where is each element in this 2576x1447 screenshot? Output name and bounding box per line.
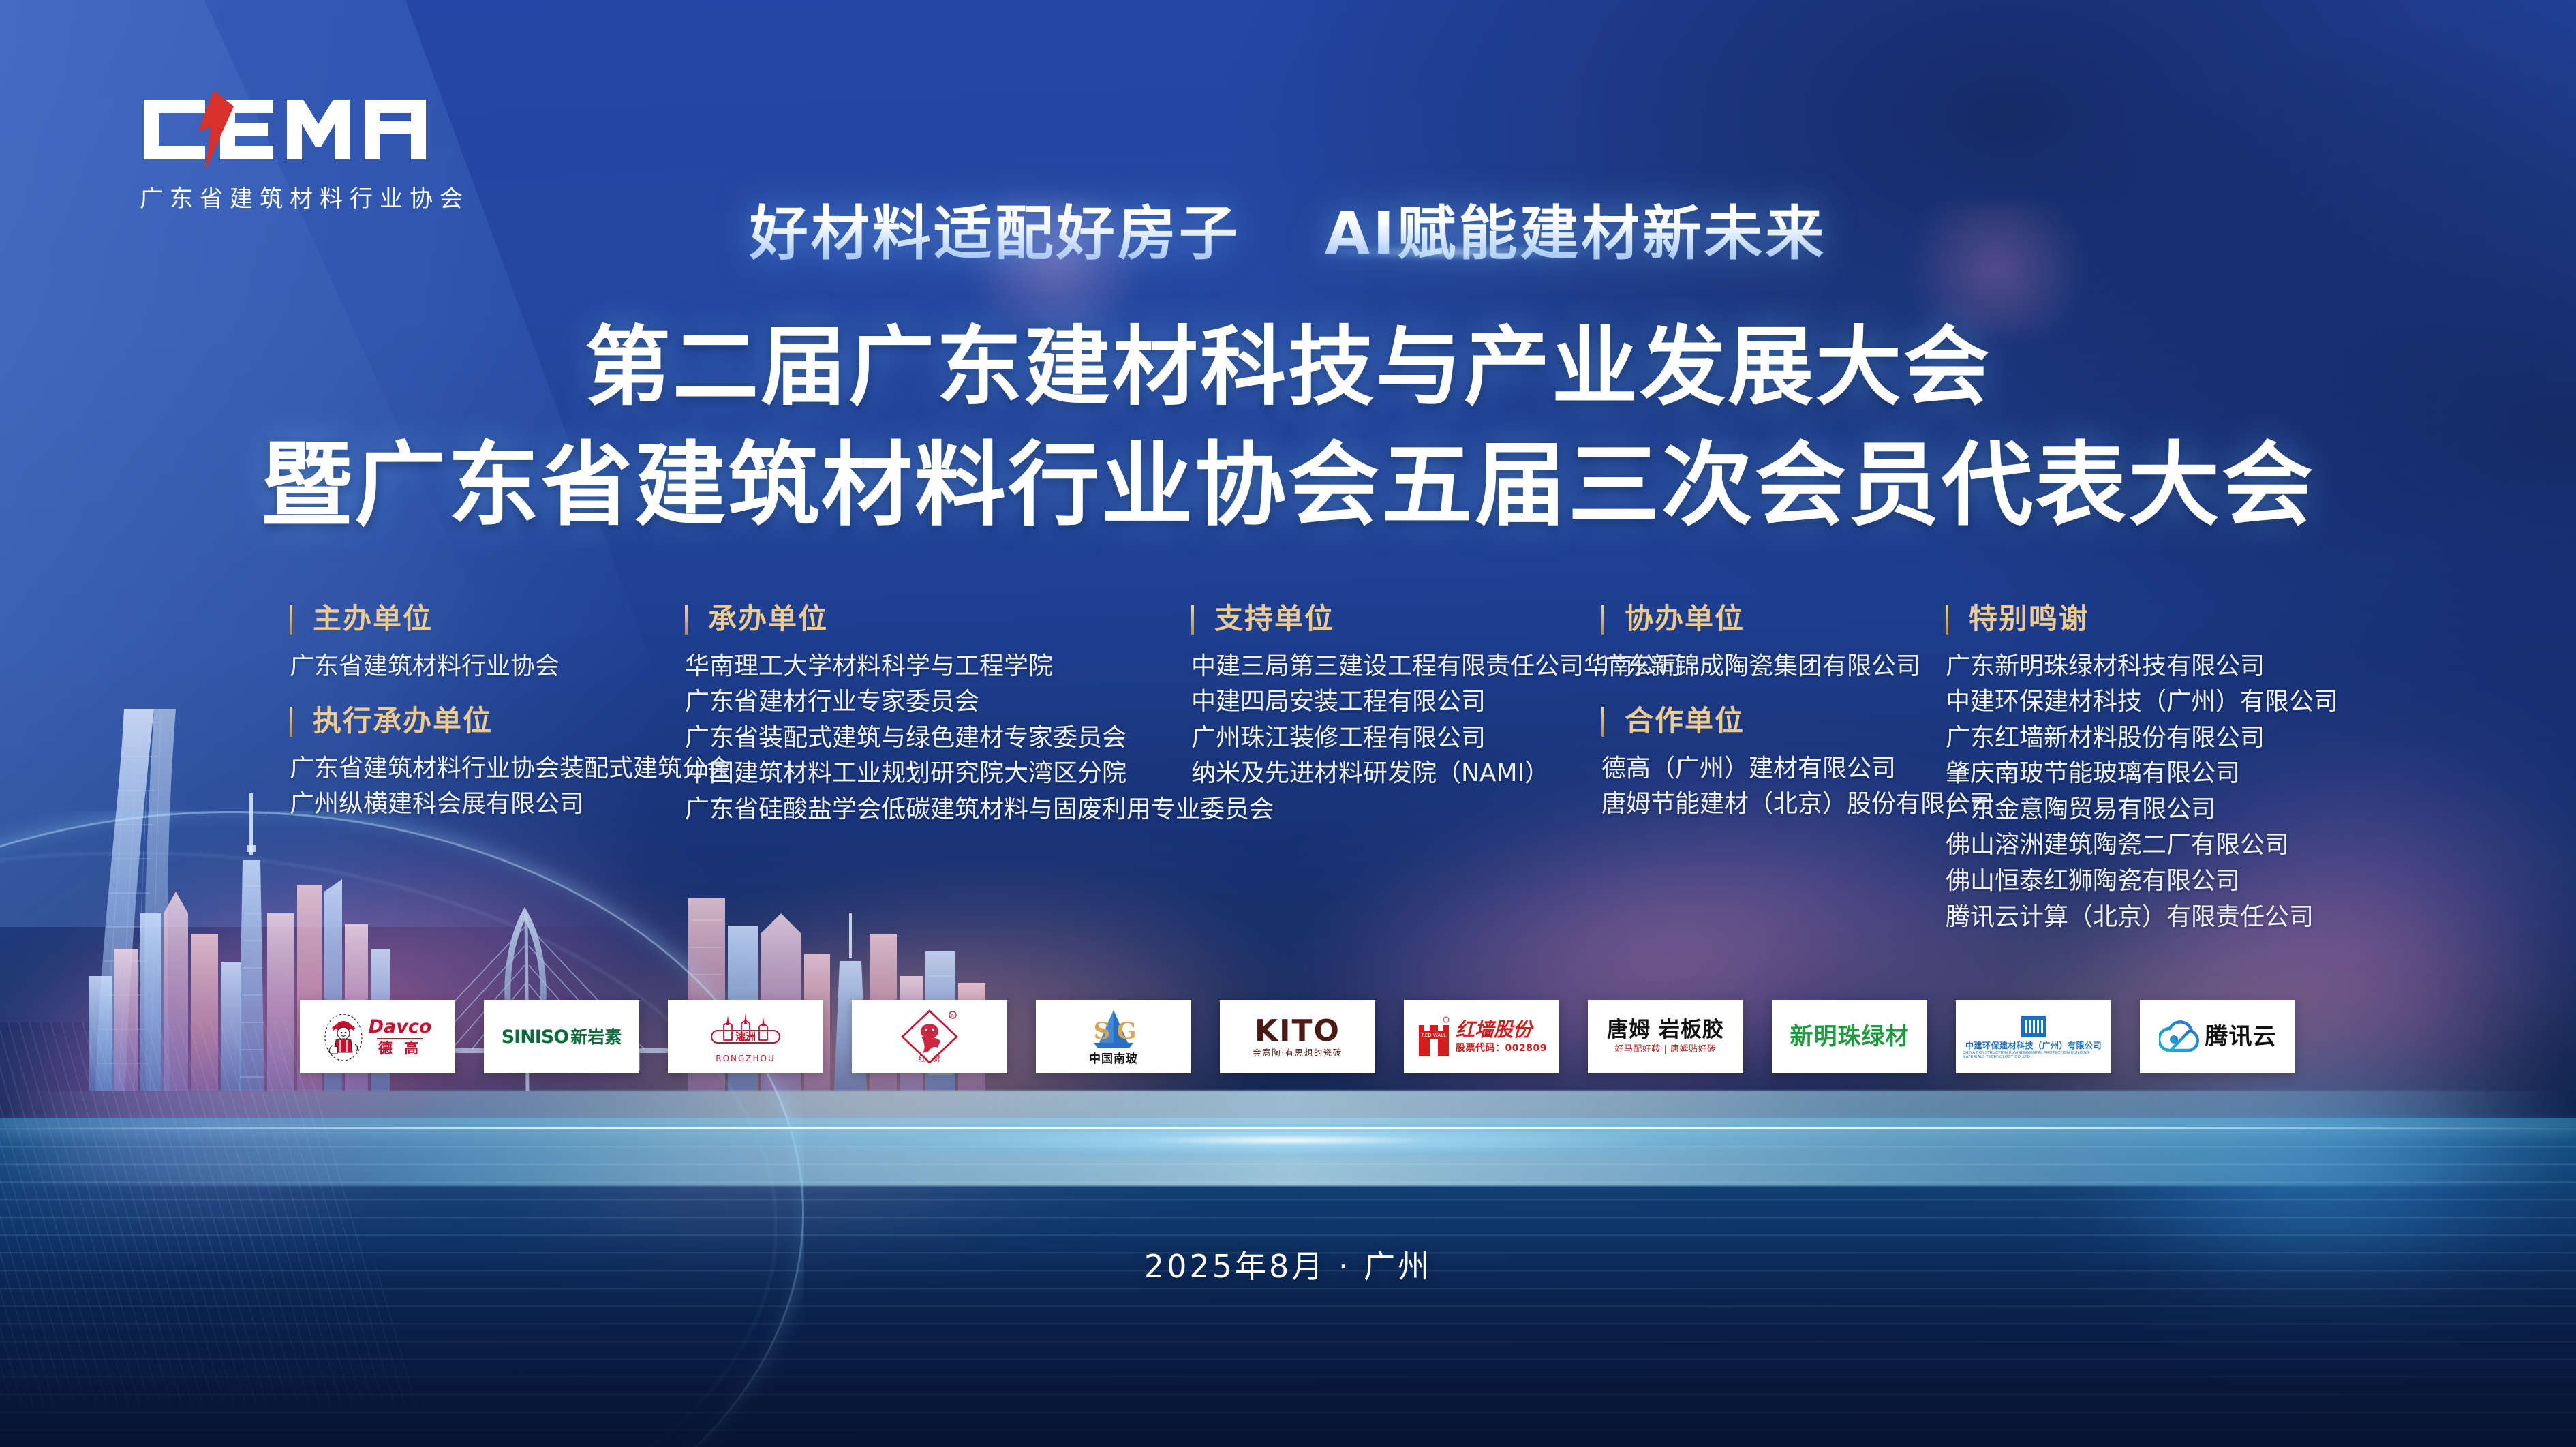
org-item: 中建环保建材科技（广州）有限公司 — [1946, 684, 2338, 720]
sponsor-sub: RONGZHOU — [716, 1054, 776, 1063]
sponsor-sub: 好马配好鞍 | 唐姆贴好砖 — [1614, 1045, 1716, 1054]
org-item: 腾讯云计算（北京）有限责任公司 — [1946, 900, 2338, 936]
sponsor-sub: 股票代码：002809 — [1456, 1044, 1547, 1053]
org-heading: 主办单位 — [290, 600, 731, 639]
csg-sail-icon: S G — [1084, 1009, 1143, 1052]
org-items: 广东新锦成陶瓷集团有限公司 — [1601, 649, 1994, 685]
org-item: 肇庆南玻节能玻璃有限公司 — [1946, 756, 2338, 792]
org-items: 德高（广州）建材有限公司 唐姆节能建材（北京）股份有限公司 — [1601, 751, 1994, 823]
org-block-xieban: 协办单位 广东新锦成陶瓷集团有限公司 — [1601, 600, 1994, 684]
cscec-square-icon — [2020, 1014, 2047, 1039]
horizon-glow — [0, 1091, 2576, 1186]
sponsor-logo-hongqiang: RED WALL 红墙股份 股票代码：002809 — [1404, 1000, 1559, 1073]
org-block-hezuo: 合作单位 德高（广州）建材有限公司 唐姆节能建材（北京）股份有限公司 — [1601, 702, 1994, 823]
org-heading: 执行承办单位 — [290, 702, 731, 741]
org-items: 广东省建筑材料行业协会装配式建筑分会 广州纵横建科会展有限公司 — [290, 751, 731, 823]
sponsor-name-glyph: 溶洲 — [735, 1031, 756, 1043]
org-block-zhuban: 主办单位 广东省建筑材料行业协会 — [290, 600, 731, 684]
davco-mascot-icon — [324, 1011, 363, 1062]
sponsor-logo-rongzhou: 溶洲 RONGZHOU — [668, 1000, 823, 1073]
sponsor-sub: 中国南玻 — [1089, 1054, 1138, 1065]
svg-text:R: R — [951, 1014, 954, 1019]
org-item: 华南理工大学材料科学与工程学院 — [685, 649, 1274, 685]
org-item: 广东省建筑材料行业协会 — [290, 649, 731, 685]
footer-date-location: 2025年8月 · 广州 — [0, 1242, 2576, 1287]
sponsor-sub: 金意陶·有思想的瓷砖 — [1253, 1049, 1342, 1058]
sponsor-name-glyph: 红 狮 — [919, 1054, 941, 1063]
honglion-diamond-icon: R 红 狮 — [897, 1008, 962, 1065]
sponsor-logo-tangmu: 唐姆 岩板胶 好马配好鞍 | 唐姆贴好砖 — [1588, 1000, 1743, 1073]
org-item: 佛山溶洲建筑陶瓷二厂有限公司 — [1946, 827, 2338, 864]
svg-text:G: G — [1116, 1018, 1136, 1045]
org-item: 德高（广州）建材有限公司 — [1601, 751, 1994, 787]
org-item: 广东红墙新材料股份有限公司 — [1946, 720, 2338, 757]
sponsor-name: 新明珠绿材 — [1790, 1025, 1910, 1048]
tagline-part-2: AI赋能建材新未来 — [1325, 200, 1827, 268]
org-heading: 特别鸣谢 — [1946, 600, 2338, 639]
org-item: 广东省建材行业专家委员会 — [685, 684, 1274, 720]
sponsor-name: 红墙股份 — [1456, 1020, 1532, 1039]
sponsor-logo-siniso: SINISO 新岩素 — [484, 1000, 639, 1073]
title-line-2: 暨广东省建筑材料行业协会五届三次会员代表大会 — [0, 425, 2576, 546]
sponsor-sub: 中建环保建材科技（广州）有限公司 — [1965, 1041, 2102, 1050]
sponsor-name: 唐姆 岩板胶 — [1607, 1020, 1724, 1041]
sponsor-logo-csg: S G 中国南玻 — [1036, 1000, 1191, 1073]
org-item: 佛山恒泰红狮陶瓷有限公司 — [1946, 864, 2338, 900]
horizon-line — [0, 1127, 2576, 1129]
org-column-temingxie: 特别鸣谢 广东新明珠绿材科技有限公司 中建环保建材科技（广州）有限公司 广东红墙… — [1946, 600, 2338, 953]
rongzhou-tower-icon: 溶洲 — [705, 1011, 786, 1054]
conference-banner: 广东省建筑材料行业协会 好材料适配好房子 AI赋能建材新未来 第二届广东建材科技… — [0, 0, 2576, 1447]
event-tagline: 好材料适配好房子 AI赋能建材新未来 — [0, 185, 2576, 271]
tagline-part-1: 好材料适配好房子 — [750, 200, 1240, 268]
org-item: 广州纵横建科会展有限公司 — [290, 787, 731, 823]
org-item: 广东省装配式建筑与绿色建材专家委员会 — [685, 720, 1274, 757]
sponsor-name: 腾讯云 — [2205, 1025, 2277, 1048]
org-item: 中国建筑材料工业规划研究院大湾区分院 — [685, 756, 1274, 792]
sponsor-name: SINISO — [502, 1028, 569, 1046]
org-block-zhixing-chengban: 执行承办单位 广东省建筑材料行业协会装配式建筑分会 广州纵横建科会展有限公司 — [290, 702, 731, 823]
sponsor-sub-en: CHINA CONSTRUCTION ENVIRONMENTAL PROTECT… — [1963, 1051, 2104, 1059]
svg-text:RED WALL: RED WALL — [1422, 1033, 1446, 1038]
org-heading: 协办单位 — [1601, 600, 1994, 639]
org-block-temingxie: 特别鸣谢 广东新明珠绿材科技有限公司 中建环保建材科技（广州）有限公司 广东红墙… — [1946, 600, 2338, 935]
org-item: 广东省硅酸盐学会低碳建筑材料与固废利用专业委员会 — [685, 792, 1274, 828]
sponsor-logo-davco: Davco 德 高 — [300, 1000, 455, 1073]
sponsor-logo-honglion: R 红 狮 — [852, 1000, 1007, 1073]
org-column-host: 主办单位 广东省建筑材料行业协会 执行承办单位 广东省建筑材料行业协会装配式建筑… — [290, 600, 731, 840]
tencent-cloud-icon — [2159, 1019, 2200, 1054]
org-heading: 承办单位 — [685, 600, 1274, 639]
svg-text:S: S — [1094, 1018, 1111, 1045]
sponsor-sub: 新岩素 — [570, 1029, 622, 1046]
sponsor-logo-strip: Davco 德 高 SINISO 新岩素 — [300, 1000, 2297, 1075]
page-title: 第二届广东建材科技与产业发展大会 暨广东省建筑材料行业协会五届三次会员代表大会 — [0, 310, 2576, 546]
organizations-section: 主办单位 广东省建筑材料行业协会 执行承办单位 广东省建筑材料行业协会装配式建筑… — [0, 600, 2576, 913]
org-items: 广东新明珠绿材科技有限公司 中建环保建材科技（广州）有限公司 广东红墙新材料股份… — [1946, 649, 2338, 935]
hongqiang-castle-icon: RED WALL — [1416, 1014, 1452, 1059]
sponsor-name: KITO — [1255, 1016, 1340, 1046]
title-line-1: 第二届广东建材科技与产业发展大会 — [0, 310, 2576, 425]
gbma-wordmark-icon — [140, 89, 460, 170]
sponsor-logo-kito: KITO 金意陶·有思想的瓷砖 — [1220, 1000, 1375, 1073]
org-items: 华南理工大学材料科学与工程学院 广东省建材行业专家委员会 广东省装配式建筑与绿色… — [685, 649, 1274, 828]
sponsor-logo-tencent-cloud: 腾讯云 — [2140, 1000, 2295, 1073]
org-item: 广东金意陶贸易有限公司 — [1946, 792, 2338, 828]
org-block-chengban: 承办单位 华南理工大学材料科学与工程学院 广东省建材行业专家委员会 广东省装配式… — [685, 600, 1274, 827]
org-item: 广东新明珠绿材科技有限公司 — [1946, 649, 2338, 685]
org-heading: 合作单位 — [1601, 702, 1994, 741]
org-item: 广东新锦成陶瓷集团有限公司 — [1601, 649, 1994, 685]
sponsor-sub: 德 高 — [378, 1041, 422, 1056]
org-item: 唐姆节能建材（北京）股份有限公司 — [1601, 787, 1994, 823]
org-column-chengban: 承办单位 华南理工大学材料科学与工程学院 广东省建材行业专家委员会 广东省装配式… — [685, 600, 1274, 845]
org-items: 广东省建筑材料行业协会 — [290, 649, 731, 685]
org-column-xieban: 协办单位 广东新锦成陶瓷集团有限公司 合作单位 德高（广州）建材有限公司 唐姆节… — [1601, 600, 1994, 840]
sponsor-logo-xinmingzhu: 新明珠绿材 — [1772, 1000, 1927, 1073]
sponsor-logo-zhongjian-huanbao: 中建环保建材科技（广州）有限公司 CHINA CONSTRUCTION ENVI… — [1956, 1000, 2111, 1073]
org-item: 广东省建筑材料行业协会装配式建筑分会 — [290, 751, 731, 787]
sponsor-name: Davco — [369, 1018, 432, 1036]
